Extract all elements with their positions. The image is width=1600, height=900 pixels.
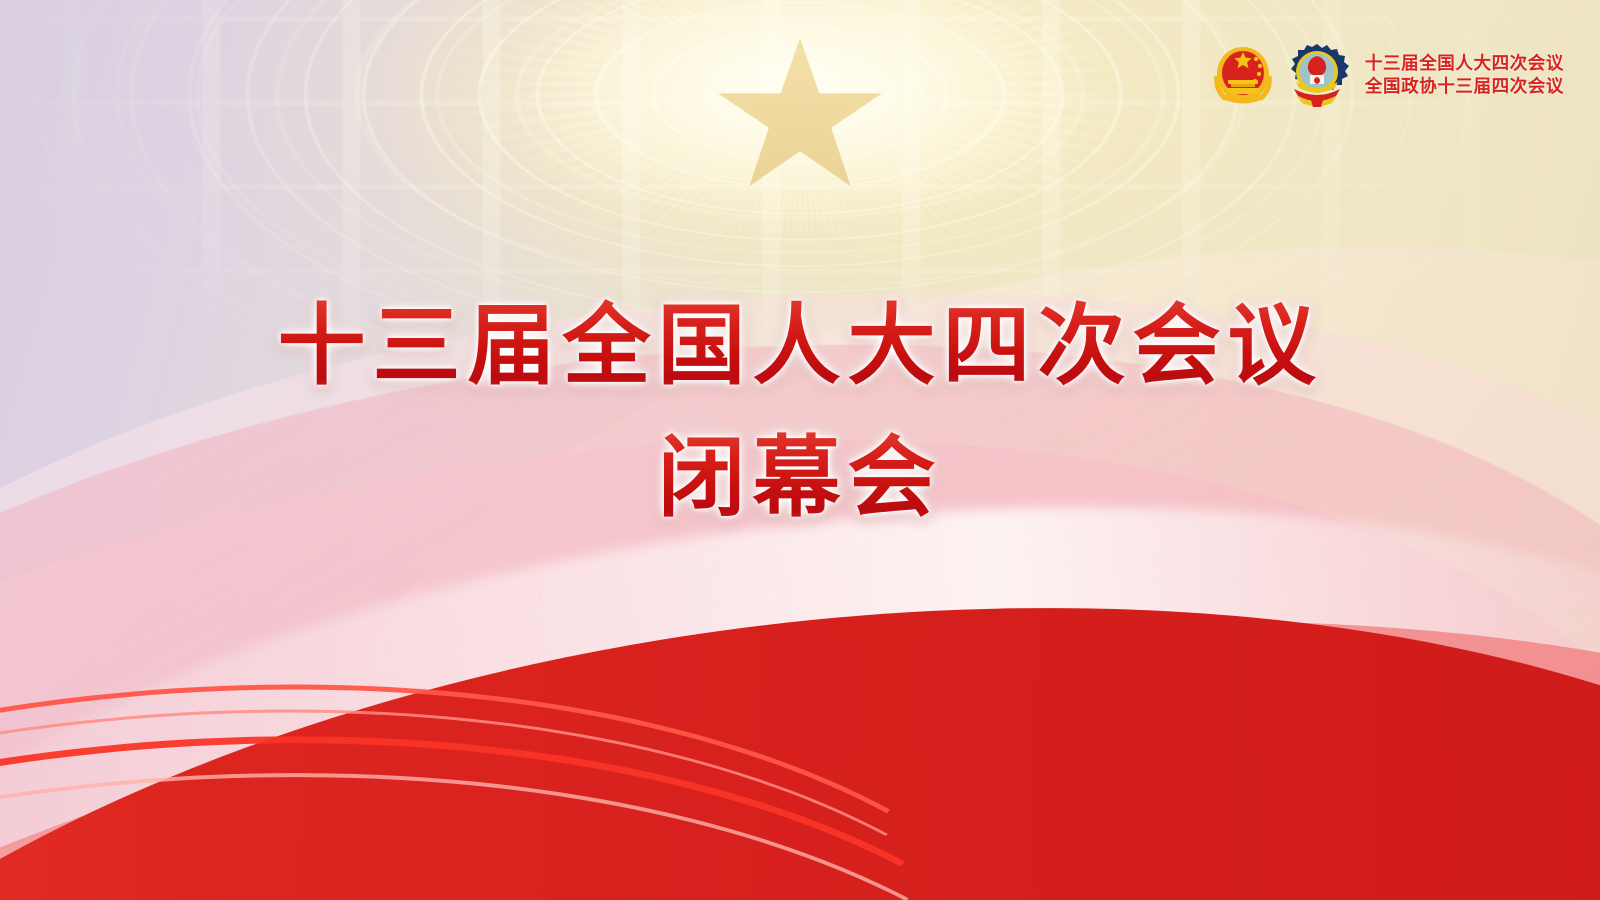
page-title: 十三届全国人大四次会议 闭幕会 [0, 296, 1600, 532]
header-logo-line-1: 十三届全国人大四次会议 [1365, 54, 1564, 73]
title-line-primary: 十三届全国人大四次会议 [0, 296, 1600, 400]
main-red-band [0, 469, 1600, 900]
title-line-secondary: 闭幕会 [0, 428, 1600, 532]
conference-backdrop: 十三届全国人大四次会议 全国政协十三届四次会议 十三届全国人大四次会议 闭幕会 [0, 0, 1600, 900]
header-logo-group: 十三届全国人大四次会议 全国政协十三届四次会议 [1212, 42, 1564, 108]
header-logo-line-2: 全国政协十三届四次会议 [1365, 77, 1564, 96]
header-logo-text: 十三届全国人大四次会议 全国政协十三届四次会议 [1365, 54, 1564, 96]
cppcc-emblem-icon [1283, 42, 1351, 108]
five-pointed-star-icon [718, 38, 882, 194]
national-emblem-of-china-icon [1212, 43, 1274, 107]
